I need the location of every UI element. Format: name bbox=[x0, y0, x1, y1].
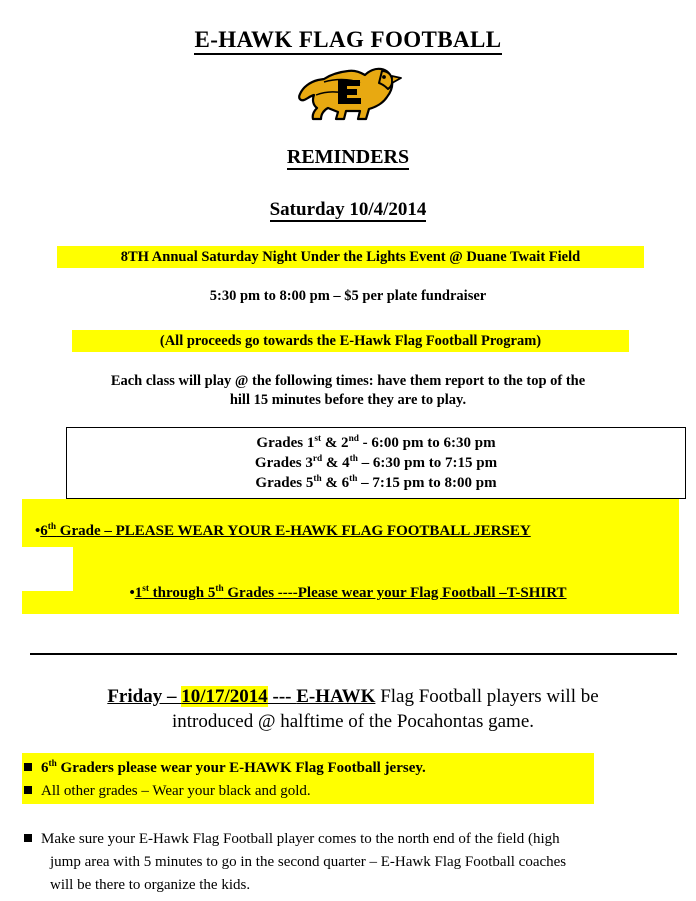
apparel-jersey-grade: 6 bbox=[40, 523, 48, 539]
event-banner-text: 8TH Annual Saturday Night Under the Ligh… bbox=[121, 249, 580, 265]
event-time-cost-text: 5:30 pm to 8:00 pm – $5 per plate fundra… bbox=[210, 288, 486, 304]
schedule-time: – 7:15 pm to 8:00 pm bbox=[357, 475, 496, 491]
square-bullet-icon bbox=[24, 763, 32, 771]
e-hawk-mascot-logo-icon bbox=[0, 62, 696, 124]
final-note-line-1: Make sure your E-Hawk Flag Football play… bbox=[24, 828, 682, 851]
apparel-jersey-grade-sup: th bbox=[48, 522, 56, 532]
halftime-bullet-grade: 6 bbox=[41, 760, 49, 776]
apparel-tshirt-text: Grades ----Please wear your Flag Footbal… bbox=[224, 585, 567, 601]
reminders-heading: REMINDERS bbox=[0, 146, 696, 169]
schedule-row: Grades 3rd & 4th – 6:30 pm to 7:15 pm bbox=[66, 453, 686, 473]
friday-day: Friday – bbox=[107, 686, 181, 707]
halftime-bullet-row: All other grades – Wear your black and g… bbox=[24, 780, 624, 803]
friday-dashes: --- bbox=[268, 686, 296, 707]
final-note-text-1: Make sure your E-Hawk Flag Football play… bbox=[41, 831, 560, 847]
page-title-text: E-HAWK FLAG FOOTBALL bbox=[194, 27, 501, 55]
event-banner-highlight: 8TH Annual Saturday Night Under the Ligh… bbox=[57, 246, 644, 268]
schedule-row: Grades 5th & 6th – 7:15 pm to 8:00 pm bbox=[66, 473, 686, 493]
halftime-bullet-text: All other grades – Wear your black and g… bbox=[41, 783, 311, 799]
apparel-tshirt-grade-2-sup: th bbox=[215, 584, 223, 594]
schedule-list: Grades 1st & 2nd - 6:00 pm to 6:30 pm Gr… bbox=[66, 433, 686, 493]
square-bullet-icon bbox=[24, 786, 32, 794]
schedule-row: Grades 1st & 2nd - 6:00 pm to 6:30 pm bbox=[66, 433, 686, 453]
halftime-bullet-text: Graders please wear your E-HAWK Flag Foo… bbox=[57, 760, 426, 776]
proceeds-highlight: (All proceeds go towards the E-Hawk Flag… bbox=[72, 330, 629, 352]
final-note-line-2: jump area with 5 minutes to go in the se… bbox=[24, 851, 682, 874]
final-note-line-3: will be there to organize the kids. bbox=[24, 874, 682, 897]
final-note: Make sure your E-Hawk Flag Football play… bbox=[24, 828, 682, 897]
play-instructions-line-2: hill 15 minutes before they are to play. bbox=[62, 391, 634, 410]
apparel-jersey-text: Grade – PLEASE WEAR YOUR E-HAWK FLAG FOO… bbox=[56, 523, 531, 539]
schedule-sup-1: rd bbox=[313, 454, 322, 464]
schedule-grades-prefix: Grades 3 bbox=[255, 455, 313, 471]
event-time-cost: 5:30 pm to 8:00 pm – $5 per plate fundra… bbox=[0, 288, 696, 305]
apparel-jersey-line: •6th Grade – PLEASE WEAR YOUR E-HAWK FLA… bbox=[35, 523, 675, 540]
halftime-bullet-row: 6th Graders please wear your E-HAWK Flag… bbox=[24, 757, 624, 780]
apparel-tshirt-grade-1-sup: st bbox=[142, 584, 149, 594]
friday-team: E-HAWK bbox=[296, 686, 375, 707]
halftime-bullets: 6th Graders please wear your E-HAWK Flag… bbox=[24, 757, 624, 803]
play-instructions: Each class will play @ the following tim… bbox=[62, 372, 634, 410]
schedule-sup-2: nd bbox=[349, 434, 359, 444]
schedule-grades-mid: & 6 bbox=[322, 475, 350, 491]
schedule-grades-mid: & 4 bbox=[322, 455, 350, 471]
square-bullet-icon bbox=[24, 834, 32, 842]
schedule-sup-1: th bbox=[313, 474, 321, 484]
event-date-heading: Saturday 10/4/2014 bbox=[0, 199, 696, 221]
friday-paragraph: Friday – 10/17/2014 --- E-HAWK Flag Foot… bbox=[48, 684, 658, 734]
schedule-time: - 6:00 pm to 6:30 pm bbox=[359, 435, 496, 451]
play-instructions-line-1: Each class will play @ the following tim… bbox=[62, 372, 634, 391]
friday-rest-line-2: introduced @ halftime of the Pocahontas … bbox=[48, 709, 658, 734]
schedule-grades-prefix: Grades 1 bbox=[256, 435, 314, 451]
document-page: E-HAWK FLAG FOOTBALL REMINDERS Saturda bbox=[0, 0, 696, 901]
friday-date: 10/17/2014 bbox=[181, 686, 268, 707]
page-title: E-HAWK FLAG FOOTBALL bbox=[0, 27, 696, 53]
schedule-grades-mid: & 2 bbox=[321, 435, 349, 451]
schedule-sup-2: th bbox=[350, 454, 358, 464]
reminders-heading-text: REMINDERS bbox=[287, 146, 409, 170]
section-divider bbox=[30, 653, 677, 655]
apparel-tshirt-mid: through 5 bbox=[149, 585, 215, 601]
event-date-heading-text: Saturday 10/4/2014 bbox=[270, 199, 427, 222]
halftime-bullet-grade-sup: th bbox=[49, 759, 57, 769]
proceeds-text: (All proceeds go towards the E-Hawk Flag… bbox=[160, 333, 541, 349]
apparel-tshirt-line: •1st through 5th Grades ----Please wear … bbox=[0, 585, 696, 602]
schedule-grades-prefix: Grades 5 bbox=[255, 475, 313, 491]
schedule-time: – 6:30 pm to 7:15 pm bbox=[358, 455, 497, 471]
friday-rest-line-1: Flag Football players will be bbox=[375, 686, 598, 707]
